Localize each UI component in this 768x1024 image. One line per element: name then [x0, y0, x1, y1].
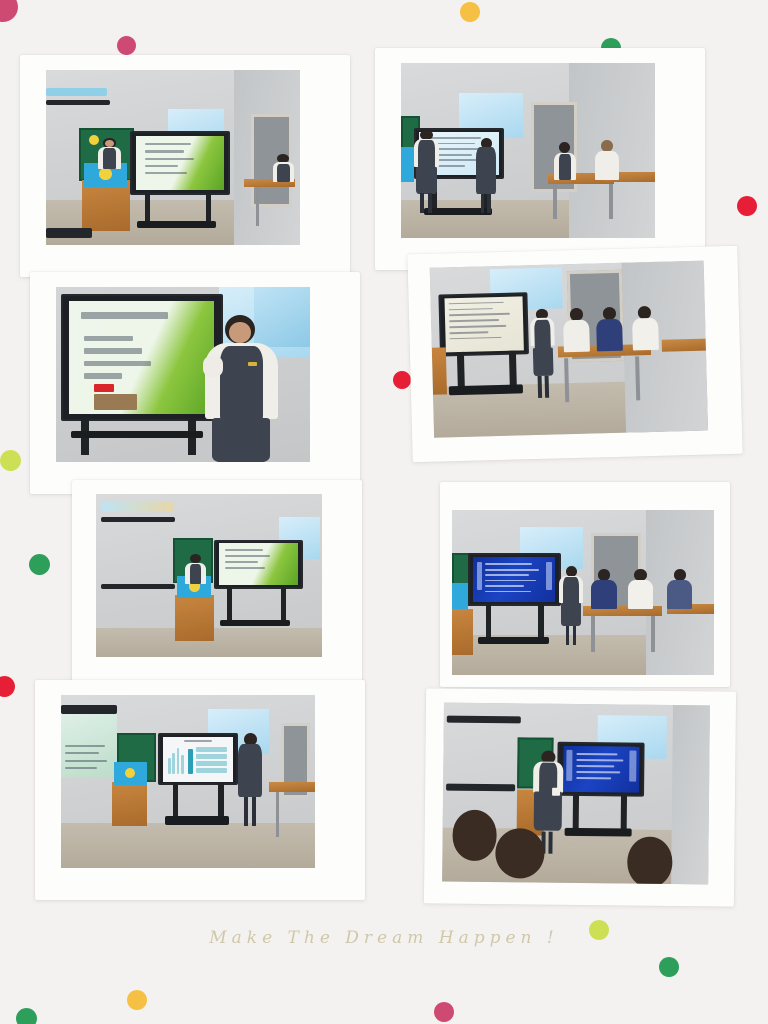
podium-and-smartboard-wide-shot — [96, 494, 322, 657]
slide-text-line — [225, 561, 258, 563]
photo-scene — [442, 703, 710, 885]
vest — [103, 148, 116, 169]
slide-text-line — [65, 767, 96, 769]
head — [602, 307, 615, 320]
head — [638, 306, 651, 319]
smart-board — [61, 294, 222, 421]
photo-scene — [61, 695, 315, 868]
seated-judge — [594, 140, 619, 180]
foreground-audience-head — [490, 828, 549, 884]
slide-blue-text — [563, 745, 639, 792]
board-stand-leg — [227, 585, 232, 621]
slide-text-line — [84, 336, 133, 342]
podium — [82, 180, 130, 231]
photo-scene — [96, 494, 322, 657]
whiteboard-rail — [46, 100, 110, 105]
teacher-closeup-pointing-at-green-slide — [56, 287, 310, 462]
standing-student — [475, 138, 498, 213]
teacher-presenter — [236, 733, 264, 826]
slide-text-line — [145, 143, 191, 145]
seated-judge — [562, 308, 591, 353]
board-stand-leg — [206, 191, 211, 223]
legs — [252, 797, 256, 827]
slide-text-line — [577, 759, 624, 761]
board-stand-base — [478, 637, 549, 644]
board-stand-leg — [457, 352, 465, 390]
legs — [538, 376, 542, 397]
held-paper — [552, 788, 561, 796]
slide-image-badge — [94, 384, 114, 392]
slide-text-line — [485, 591, 531, 593]
teacher-with-bar-chart-infographic — [61, 695, 315, 868]
board-stand-leg — [509, 351, 517, 389]
side-desk — [269, 782, 315, 792]
slide-text-line — [449, 302, 504, 305]
slide-text-line — [84, 348, 142, 354]
dot-green-right-bottom — [659, 957, 679, 977]
dot-yellow-bottom — [127, 990, 147, 1010]
whiteboard-rail — [101, 517, 176, 522]
desk-leg — [591, 616, 595, 652]
head — [559, 142, 570, 154]
slide-text-line — [225, 549, 263, 551]
skirt — [416, 167, 436, 194]
slide-text-line — [485, 580, 536, 582]
dot-crimson-right — [737, 196, 757, 216]
slide-green-bullets — [69, 301, 214, 414]
legs — [428, 193, 432, 213]
student-presenter — [184, 554, 207, 583]
slide-decoration — [566, 750, 572, 780]
photo-card-photo-1[interactable] — [20, 55, 350, 277]
presenter-and-student-with-judges — [401, 63, 655, 238]
board-stand-leg — [573, 792, 579, 831]
chart-figure — [168, 758, 171, 774]
dot-green-bottom-left — [16, 1008, 37, 1024]
board-stand-leg — [538, 602, 543, 638]
desk-leg — [651, 616, 655, 652]
whiteboard-rail — [446, 715, 521, 723]
skirt — [561, 603, 581, 627]
skirt — [212, 418, 270, 462]
chart-title — [184, 740, 212, 742]
slide-text-line — [485, 585, 524, 587]
photo-card-photo-7[interactable] — [35, 680, 365, 900]
chart-bar — [188, 749, 193, 775]
head — [495, 828, 545, 879]
slide-text-line — [65, 760, 106, 762]
pinafore — [277, 164, 290, 182]
chart-row — [196, 768, 227, 773]
seated-student — [272, 154, 295, 182]
slide-text-line — [449, 308, 493, 311]
collage-page: Make The Dream Happen ! — [0, 0, 768, 1024]
slide-text-line — [449, 313, 510, 316]
pointing-arm — [203, 356, 223, 377]
podium — [175, 595, 213, 641]
legs — [549, 831, 553, 854]
board-stand-base — [220, 620, 290, 627]
vest — [190, 564, 202, 584]
pinafore — [476, 147, 495, 194]
flag-banner — [401, 147, 414, 182]
slide-text-line — [145, 165, 179, 167]
slide-text-line — [65, 752, 99, 754]
judges-desk — [662, 339, 706, 352]
skirt — [534, 792, 562, 832]
smart-board — [130, 131, 231, 195]
head — [601, 140, 613, 152]
side-podium — [452, 609, 473, 655]
blue-slide-presentation-with-audience — [452, 510, 714, 675]
seated-judge — [553, 142, 576, 181]
smart-board — [468, 553, 561, 607]
head — [627, 837, 672, 884]
desk-leg — [553, 184, 557, 219]
slide-text-line — [450, 331, 489, 334]
photo-scene — [401, 63, 655, 238]
dot-crimson-bottomleft — [0, 676, 15, 697]
board-stand-leg — [218, 782, 223, 820]
wall-right-panel — [671, 705, 710, 884]
dot-pink-top — [117, 36, 136, 55]
chart-figure — [172, 753, 175, 774]
student-presenting-to-three-seated-judges — [430, 261, 708, 438]
smart-board — [158, 733, 238, 785]
legs — [420, 193, 424, 213]
side-podium — [432, 347, 447, 395]
seated-judge — [595, 307, 624, 352]
smart-board — [557, 741, 644, 796]
torso — [628, 580, 653, 609]
dark-vest — [220, 346, 263, 422]
slide-text-line — [145, 172, 188, 174]
collage-caption: Make The Dream Happen ! — [0, 928, 768, 948]
smart-board — [214, 540, 304, 590]
blouse — [595, 151, 619, 180]
photo-scene — [452, 510, 714, 675]
slide-green-text — [219, 543, 298, 585]
chart-row — [196, 754, 227, 759]
slide-decoration — [546, 562, 552, 589]
dot-pink-bottom — [434, 1002, 454, 1022]
slide-text-line — [577, 771, 621, 773]
slide-text-line — [84, 373, 122, 379]
slide-text-line — [485, 574, 529, 576]
torso — [591, 580, 616, 609]
whiteboard-rail — [101, 584, 176, 589]
face — [229, 322, 250, 343]
slide-bar-chart — [163, 737, 233, 782]
window-blind — [46, 88, 107, 97]
slide-text — [444, 297, 524, 352]
photo-scene — [430, 261, 708, 438]
chart-figure — [177, 748, 180, 775]
audience-member — [628, 569, 654, 609]
dress — [238, 744, 261, 796]
teacher-closeup — [203, 315, 279, 462]
presentation-over-audience-heads — [442, 703, 710, 885]
slide-text-line — [450, 337, 502, 340]
slide-text-line — [225, 555, 269, 557]
slide-green-text — [136, 136, 225, 191]
desk-leg — [256, 187, 260, 226]
slide-text-line — [577, 753, 618, 755]
board-stand-base — [565, 827, 632, 837]
photo-card-photo-4[interactable] — [407, 246, 742, 463]
photo-scene — [46, 70, 300, 245]
projector-rail — [61, 705, 117, 714]
classroom-student-at-podium-green-slide — [46, 70, 300, 245]
student-presenter — [559, 566, 583, 645]
board-stand-leg — [621, 792, 627, 831]
projector-screen — [61, 712, 117, 778]
photo-card-photo-5[interactable] — [72, 480, 362, 685]
smart-board — [439, 292, 530, 356]
slide-text-line — [485, 563, 533, 565]
dot-green-left — [29, 554, 50, 575]
skirt — [532, 348, 553, 377]
slide-decoration — [477, 562, 483, 589]
torso — [596, 318, 623, 351]
slide-text-line — [450, 325, 506, 328]
slide-decoration — [630, 751, 636, 781]
dot-lime-left — [0, 450, 21, 471]
photo-card-photo-8[interactable] — [424, 688, 736, 906]
slide-blue-text — [473, 557, 555, 603]
legs — [487, 194, 490, 214]
photo-card-photo-6[interactable] — [440, 482, 730, 687]
dot-pink-topleft-clipped — [0, 0, 18, 22]
desk-leg — [276, 792, 280, 837]
student-presenter — [97, 138, 122, 170]
podium — [112, 782, 148, 827]
legs — [244, 797, 248, 827]
floor-object — [46, 228, 92, 239]
legs — [573, 626, 577, 645]
flag-sun — [125, 768, 135, 778]
slide-text-line — [84, 361, 151, 367]
board-stand-leg — [281, 585, 286, 621]
photo-card-photo-2[interactable] — [375, 48, 705, 270]
dot-yellow-top — [460, 2, 480, 22]
legs — [566, 626, 570, 645]
board-stand-leg — [145, 191, 150, 223]
foreground-audience-head — [623, 837, 677, 884]
name-badge — [248, 362, 257, 366]
slide-text-line — [225, 567, 265, 569]
desk-leg — [609, 184, 613, 219]
torso — [563, 319, 590, 352]
chart-row — [196, 747, 227, 752]
slide-text-line — [577, 765, 615, 767]
board-stand-leg — [173, 782, 178, 820]
student-presenter — [529, 309, 556, 398]
audience-member — [591, 569, 617, 609]
pinafore — [559, 154, 571, 180]
wall-banner — [101, 502, 173, 512]
slide-text-line — [145, 158, 195, 160]
head — [190, 554, 201, 563]
dot-crimson-mid — [393, 371, 411, 389]
slide-text-line — [485, 569, 539, 571]
head — [569, 308, 582, 321]
slide-text-line — [145, 150, 184, 152]
chart-row — [196, 761, 227, 766]
board-stand-bar — [71, 431, 203, 438]
board-stand-base — [137, 221, 216, 228]
torso — [632, 317, 659, 350]
slide-text-line — [65, 745, 104, 747]
legs — [545, 376, 549, 397]
legs — [481, 194, 484, 214]
slide-photo — [94, 394, 137, 410]
chart-figure — [181, 755, 184, 775]
photo-scene — [56, 287, 310, 462]
board-stand-base — [165, 816, 229, 825]
slide-text-line — [577, 777, 612, 779]
photo-card-photo-3[interactable] — [30, 272, 360, 494]
board-stand-leg — [486, 602, 491, 638]
seated-judge — [631, 306, 660, 351]
torso — [667, 580, 692, 609]
slide-text-line — [81, 312, 168, 319]
audience-member — [667, 569, 693, 609]
teacher-presenter — [414, 130, 439, 214]
whiteboard-rail — [446, 783, 515, 791]
slide-text-line — [449, 319, 499, 322]
